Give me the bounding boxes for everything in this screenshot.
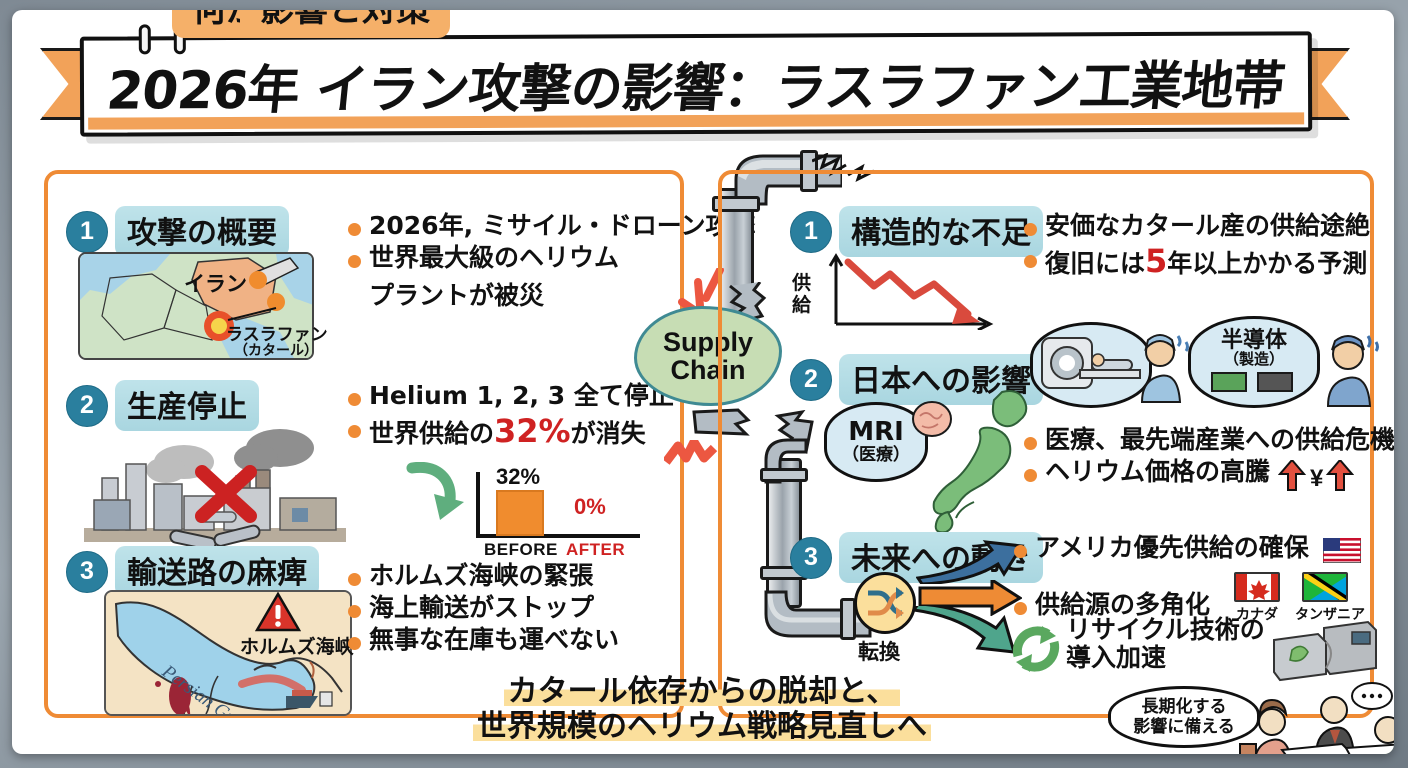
bubble-semiconductor: 半導体 （製造） [1188,316,1320,408]
section-number-badge: 2 [790,359,832,401]
chart-value-before: 32% [496,464,540,490]
map-label-ras-laffan-sub: （カタール） [234,340,318,360]
person-left [1240,700,1292,754]
bullet-dot-icon [348,573,361,586]
worried-worker-icon [1320,328,1384,413]
svg-text:¥: ¥ [1310,465,1324,492]
section-head: 1 攻撃の概要 [66,206,289,257]
chip-icon [1208,369,1300,395]
bullet-item: 海上輸送がストップ [348,594,619,622]
chart-axis-label-supply-2: 給 [792,290,811,317]
bullet-dot-icon [348,425,361,438]
recycle-line-2: 導入加速 [1066,644,1265,672]
chart-bar-before [496,490,544,536]
recycle-line-1: リサイクル技術の [1066,616,1265,644]
highlight-5-years: 5 [1145,242,1167,280]
section-number-badge: 1 [66,211,108,253]
bullet-item: 復旧には5年以上かかる予測 [1024,244,1370,280]
conversion-shuffle-icon [854,572,916,634]
decline-chart-svg [818,252,1008,330]
bullets-transport-paralysis: ホルムズ海峡の緊張 海上輸送がストップ 無事な在庫も運べない [348,562,619,658]
section-number-badge: 3 [790,537,832,579]
chart-label-after: AFTER [566,540,625,560]
bullet-dot-icon [1014,602,1027,615]
recycle-text: リサイクル技術の 導入加速 [1066,616,1265,672]
meeting-svg [1230,682,1394,754]
bullet-dot-icon [1024,255,1037,268]
factory-svg [84,422,346,550]
map-label-iran: イラン [184,268,247,298]
bullet-dot-icon [1024,437,1037,450]
impact-spark-icon [664,440,718,477]
bullets-japan-impact: 医療、最先端産業への供給危機 ヘリウム価格の高騰 ¥ [1024,426,1394,496]
bubble-mri-sub: （医療） [842,447,910,465]
section-attack-overview: 1 攻撃の概要 [66,206,289,257]
map-label-hormuz-strait: ホルムズ海峡 [240,632,354,659]
speech-line-2: 影響に備える [1133,717,1235,737]
section-title: 構造的な不足 [839,206,1043,257]
bullet-dot-icon [1024,469,1037,482]
bottom-summary-banner: カタール依存からの脱却と、 世界規模のヘリウム戦略見直しへ [442,674,962,745]
page-title: 2026年 イラン攻撃の影響：ラスラファン工業地帯 [80,43,1312,123]
bullet-item: 医療、最先端産業への供給危機 [1024,426,1394,454]
ribbon-band: 2026年 イラン攻撃の影響：ラスラファン工業地帯 [80,31,1312,136]
section-head: 1 構造的な不足 [790,206,1043,257]
banner-line-1: カタール依存からの脱却と、 [442,674,962,709]
bullet-dot-icon [348,223,361,236]
before-after-bar-chart: 32% 0% BEFORE AFTER [462,466,642,552]
bullet-dot-icon [348,393,361,406]
bullet-dot-icon [1014,545,1027,558]
screenshot-frame: 2026年 イラン攻撃の影響：ラスラファン工業地帯 何が起きたか 1 攻撃の概要 [0,0,1408,768]
bullets-production-halt: Helium 1, 2, 3 全て停止 世界供給の32%が消失 [348,382,674,454]
bubble-mri-title: MRI [848,419,904,446]
section-structural-shortage: 1 構造的な不足 [790,206,1043,257]
factory-illustration [84,422,346,550]
bullets-structural-shortage: 安価なカタール産の供給途絶 復旧には5年以上かかる予測 [1024,212,1370,284]
worried-person-icon [1134,330,1196,409]
infographic-canvas: 2026年 イラン攻撃の影響：ラスラファン工業地帯 何が起きたか 1 攻撃の概要 [12,10,1394,754]
bullet-dot-icon [348,255,361,268]
section-number-badge: 3 [66,551,108,593]
bullet-item: ホルムズ海峡の緊張 [348,562,619,590]
bullet-item: 無事な在庫も運べない [348,626,619,654]
supply-decline-chart [818,252,1008,335]
bullet-dot-icon [348,637,361,650]
bullet-item: 世界供給の32%が消失 [348,414,674,450]
chart-y-axis [476,472,480,538]
recycling-machine-icon [1268,618,1380,689]
banner-line-2: 世界規模のヘリウム戦略見直しへ [442,709,962,744]
meeting-people-illustration [1230,682,1394,754]
bullet-item: 2026年, ミサイル・ドローン攻撃 [348,212,756,240]
section-number-badge: 1 [790,211,832,253]
bubble-semi-sub: （製造） [1224,352,1284,368]
chart-label-before: BEFORE [484,540,558,560]
bullet-dot-icon [348,605,361,618]
price-up-arrows-icon: ¥ [1278,460,1354,492]
section-title: 攻撃の概要 [115,206,289,257]
section-number-badge: 2 [66,385,108,427]
bullet-dot-icon [1024,223,1037,236]
conversion-label: 転換 [858,636,900,666]
highlight-32-percent: 32% [494,412,571,450]
bullet-item: ヘリウム価格の高騰 ¥ [1024,458,1394,492]
bullet-item: アメリカ優先供給の確保 [1014,534,1361,565]
bubble-semi-title: 半導体 [1221,329,1287,352]
flag-tanzania-icon [1302,572,1348,602]
green-curved-arrow-icon [404,462,474,529]
chart-value-after: 0% [574,494,606,520]
speech-line-1: 長期化する [1142,697,1227,717]
bullet-item: Helium 1, 2, 3 全て停止 [348,382,674,410]
bullet-item: 安価なカタール産の供給途絶 [1024,212,1370,240]
flag-usa-icon [1323,538,1361,569]
flag-canada-icon [1234,572,1280,602]
arrow-to-recycling [912,606,1022,667]
column-header-right: 影響と対策 [240,10,450,38]
mri-scanner-icon [1036,332,1146,398]
recycle-arrows-icon [1008,622,1064,681]
